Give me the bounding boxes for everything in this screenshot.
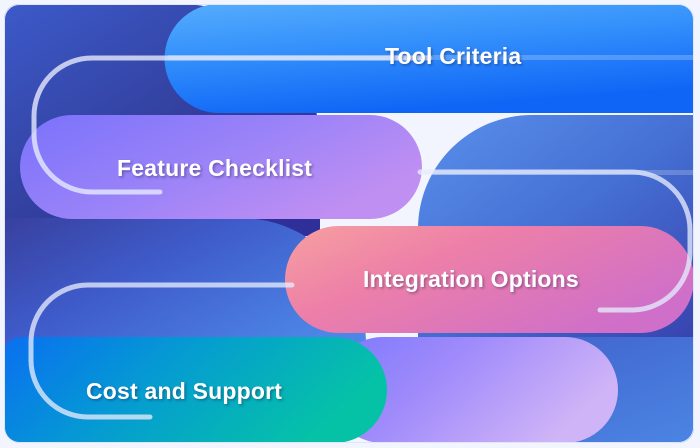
pill-cost-support — [4, 337, 387, 443]
infographic-artwork — [0, 0, 700, 448]
pill-feature-checklist — [20, 115, 422, 219]
infographic-canvas: Tool Criteria Feature Checklist Integrat… — [0, 0, 700, 448]
pill-integration-options — [285, 226, 694, 333]
